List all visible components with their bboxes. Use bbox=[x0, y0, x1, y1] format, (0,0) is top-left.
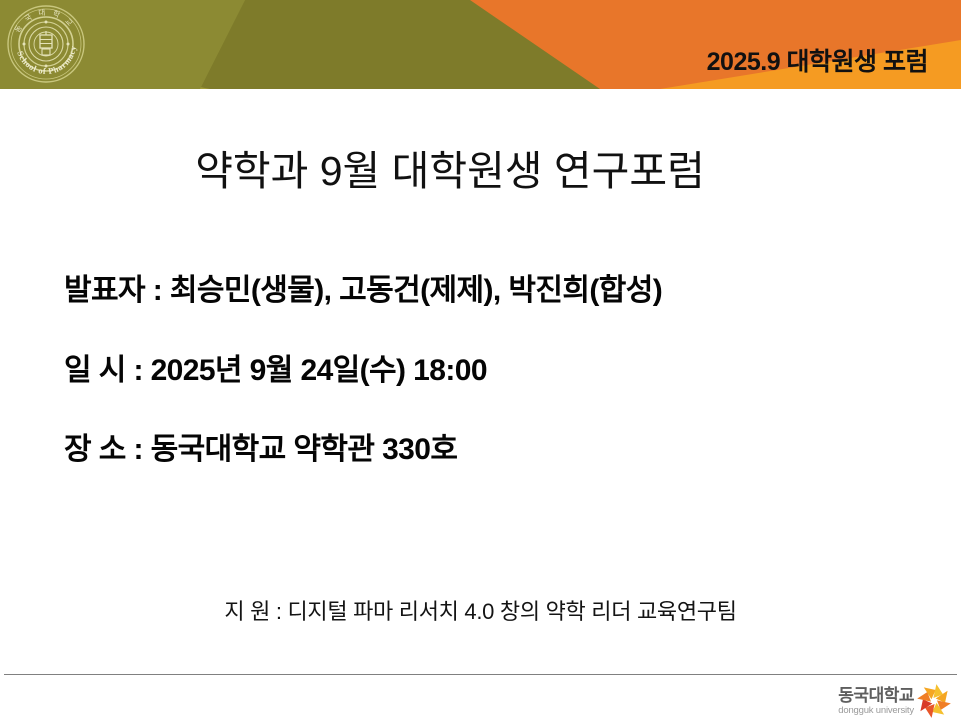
dongguk-pinwheel-icon bbox=[917, 684, 951, 718]
slide-footer: 동국대학교 dongguk university bbox=[0, 674, 961, 721]
event-info-block: 발표자 : 최승민(생물), 고동건(제제), 박진희(합성) 일 시 : 20… bbox=[64, 275, 944, 466]
header-banner: 동 국 대 학 교 School of Pharmacy 2025.9 대학원생… bbox=[0, 0, 961, 89]
dongguk-university-logo: 동국대학교 dongguk university bbox=[838, 684, 951, 718]
brand-name-korean: 동국대학교 bbox=[838, 687, 914, 704]
page-title: 약학과 9월 대학원생 연구포럼 bbox=[0, 137, 900, 197]
brand-name-english: dongguk university bbox=[838, 706, 914, 716]
brand-text-group: 동국대학교 dongguk university bbox=[838, 687, 914, 716]
footer-divider bbox=[4, 674, 957, 675]
school-of-pharmacy-seal-icon: 동 국 대 학 교 School of Pharmacy bbox=[6, 4, 86, 84]
slide-body: 약학과 9월 대학원생 연구포럼 발표자 : 최승민(생물), 고동건(제제),… bbox=[0, 89, 961, 674]
info-line-location: 장 소 : 동국대학교 약학관 330호 bbox=[64, 434, 944, 466]
support-line: 지 원 : 디지털 파마 리서치 4.0 창의 약학 리더 교육연구팀 bbox=[0, 594, 961, 626]
info-line-datetime: 일 시 : 2025년 9월 24일(수) 18:00 bbox=[64, 355, 944, 387]
info-line-presenters: 발표자 : 최승민(생물), 고동건(제제), 박진희(합성) bbox=[64, 275, 944, 307]
banner-title: 2025.9 대학원생 포럼 bbox=[707, 50, 928, 75]
presentation-slide: 동 국 대 학 교 School of Pharmacy 2025.9 대학원생… bbox=[0, 0, 961, 721]
